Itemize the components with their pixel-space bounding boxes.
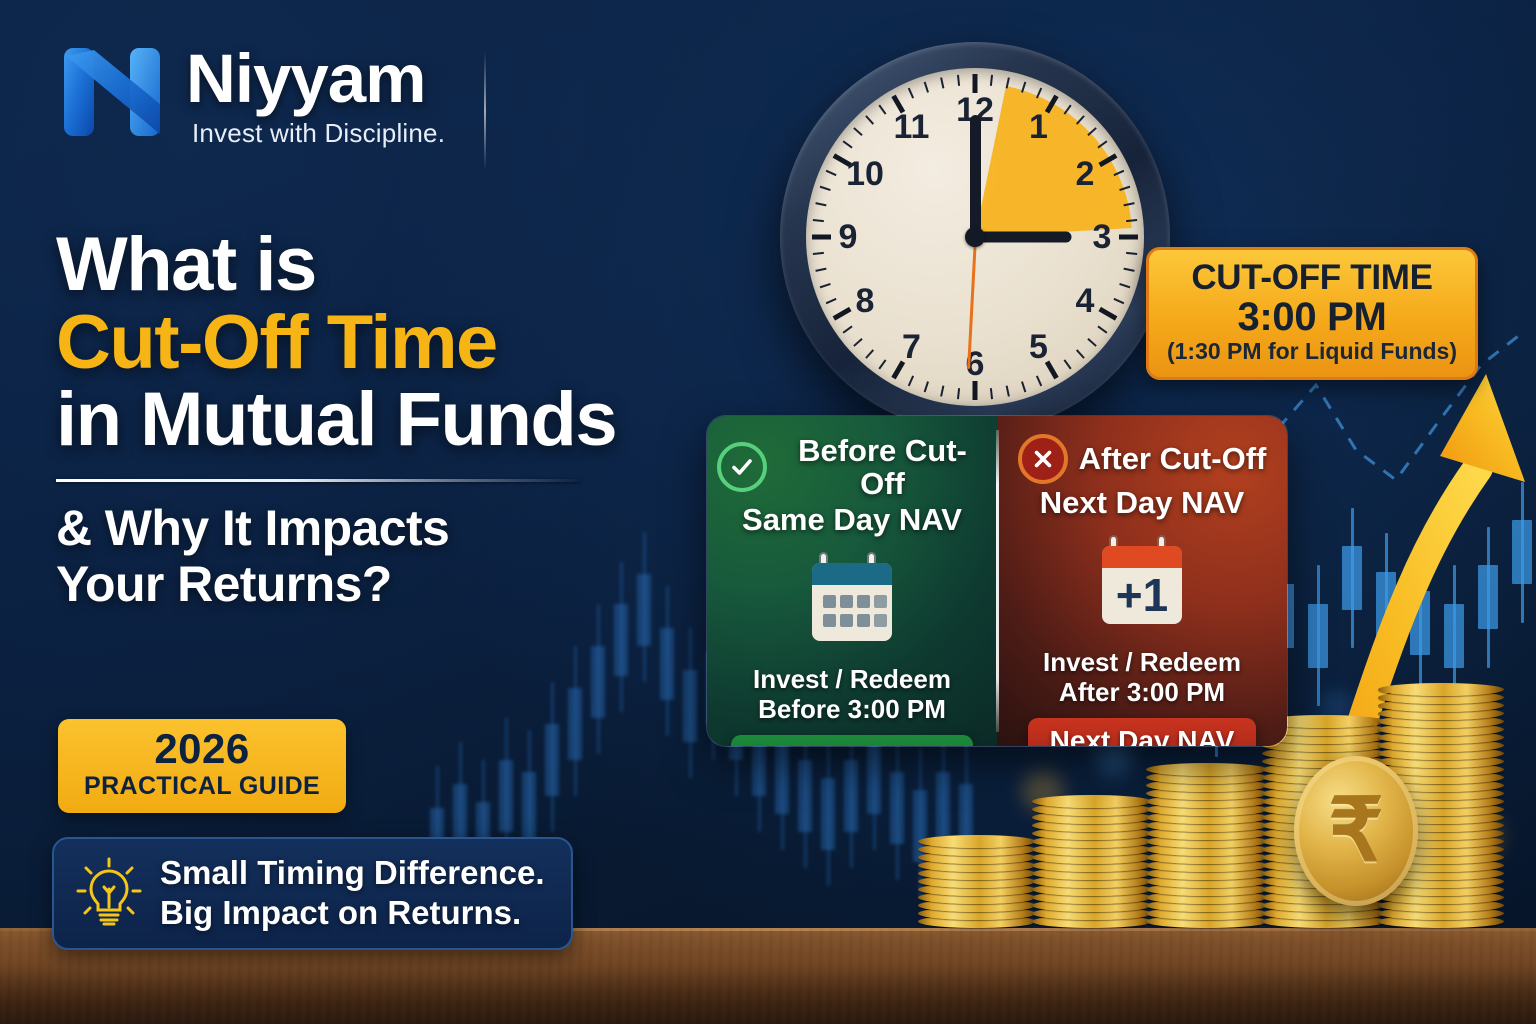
clock-center-pin xyxy=(965,227,985,247)
calendar-icon xyxy=(806,551,898,647)
tip-line-1: Small Timing Difference. xyxy=(160,853,545,893)
candlestick-body xyxy=(683,670,697,742)
panel-divider xyxy=(996,430,999,732)
clock-number: 10 xyxy=(840,157,890,191)
clock-number: 4 xyxy=(1060,284,1110,318)
wall-clock: 121234567891011 xyxy=(780,42,1170,432)
clock-number: 2 xyxy=(1060,157,1110,191)
candlestick-body xyxy=(890,772,904,844)
calendar-plus-one-label: +1 xyxy=(1116,569,1168,621)
before-subtitle: Same Day NAV xyxy=(717,503,987,537)
candlestick-body xyxy=(798,760,812,832)
check-circle-icon xyxy=(717,442,767,492)
clock-face: 121234567891011 xyxy=(806,68,1144,406)
cutoff-note: (1:30 PM for Liquid Funds) xyxy=(1159,339,1465,364)
headline-line-3: in Mutual Funds xyxy=(56,381,716,459)
after-desc-2: After 3:00 PM xyxy=(1007,677,1277,707)
headline-block: What is Cut-Off Time in Mutual Funds & W… xyxy=(56,226,716,612)
coin-stack xyxy=(1032,790,1152,928)
year-badge-label: PRACTICAL GUIDE xyxy=(84,772,320,801)
year-badge-year: 2026 xyxy=(84,728,320,770)
clock-tick xyxy=(973,381,978,400)
rupee-symbol: ₹ xyxy=(1329,781,1384,881)
after-desc-1: Invest / Redeem xyxy=(1007,647,1277,677)
cutoff-time-badge: CUT-OFF TIME 3:00 PM (1:30 PM for Liquid… xyxy=(1146,247,1478,380)
candlestick-body xyxy=(660,628,674,700)
coin-stack xyxy=(1146,758,1268,928)
after-title: After Cut-Off xyxy=(1079,442,1267,475)
coin xyxy=(1032,795,1152,808)
calendar-plus-one-icon: +1 xyxy=(1096,534,1188,630)
candlestick-body xyxy=(499,760,513,832)
clock-number: 6 xyxy=(950,347,1000,381)
coin xyxy=(1378,683,1504,696)
comparison-card: Before Cut-Off Same Day NAV xyxy=(706,415,1288,747)
brand-logo[interactable]: Niyyam Invest with Discipline. xyxy=(56,42,445,149)
headline-highlight: Cut-Off Time xyxy=(56,304,716,382)
before-desc-1: Invest / Redeem xyxy=(717,664,987,694)
coin xyxy=(1146,763,1268,776)
candlestick-body xyxy=(844,760,858,832)
cutoff-title: CUT-OFF TIME xyxy=(1159,260,1465,296)
after-nav-pill: Next Day NAV xyxy=(1028,718,1257,747)
n-monogram-icon xyxy=(56,42,168,142)
clock-number: 1 xyxy=(1014,110,1064,144)
candlestick-body xyxy=(775,742,789,814)
logo-divider xyxy=(484,52,486,170)
brand-tagline: Invest with Discipline. xyxy=(192,118,445,149)
year-badge: 2026 PRACTICAL GUIDE xyxy=(58,719,346,813)
before-desc-2: Before 3:00 PM xyxy=(717,694,987,724)
coin xyxy=(918,835,1036,848)
subheadline-line-1: & Why It Impacts xyxy=(56,500,716,556)
subheadline-line-2: Your Returns? xyxy=(56,556,716,612)
clock-number: 8 xyxy=(840,284,890,318)
headline-divider xyxy=(56,479,580,482)
clock-number: 11 xyxy=(887,110,937,144)
tip-line-2: Big Impact on Returns. xyxy=(160,893,545,933)
before-title: Before Cut-Off xyxy=(778,434,987,501)
cutoff-time: 3:00 PM xyxy=(1159,296,1465,338)
brand-name: Niyyam xyxy=(186,46,445,112)
poster-canvas: ₹ Niyyam Invest with Discipline. What xyxy=(0,0,1536,1024)
clock-number: 7 xyxy=(887,330,937,364)
clock-number: 5 xyxy=(1014,330,1064,364)
headline-line-1: What is xyxy=(56,226,716,304)
after-cutoff-panel: After Cut-Off Next Day NAV +1 Invest / R… xyxy=(997,416,1287,746)
before-nav-pill: Same Day NAV xyxy=(731,735,974,747)
coin-stack xyxy=(918,830,1036,928)
candlestick-body xyxy=(591,646,605,718)
tip-box: Small Timing Difference. Big Impact on R… xyxy=(52,837,573,950)
clock-number: 3 xyxy=(1077,220,1127,254)
after-subtitle: Next Day NAV xyxy=(1007,486,1277,520)
clock-minute-hand xyxy=(970,115,981,237)
candlestick-body xyxy=(568,688,582,760)
candlestick-body xyxy=(867,742,881,814)
clock-number: 9 xyxy=(823,220,873,254)
candlestick-body xyxy=(614,604,628,676)
before-cutoff-panel: Before Cut-Off Same Day NAV xyxy=(707,416,997,746)
candlestick-body xyxy=(821,778,835,850)
candlestick-body xyxy=(522,772,536,844)
clock-hour-hand xyxy=(975,232,1071,243)
x-circle-icon xyxy=(1018,434,1068,484)
rupee-coin: ₹ xyxy=(1294,756,1418,906)
candlestick-body xyxy=(545,724,559,796)
lightbulb-icon xyxy=(76,857,142,929)
